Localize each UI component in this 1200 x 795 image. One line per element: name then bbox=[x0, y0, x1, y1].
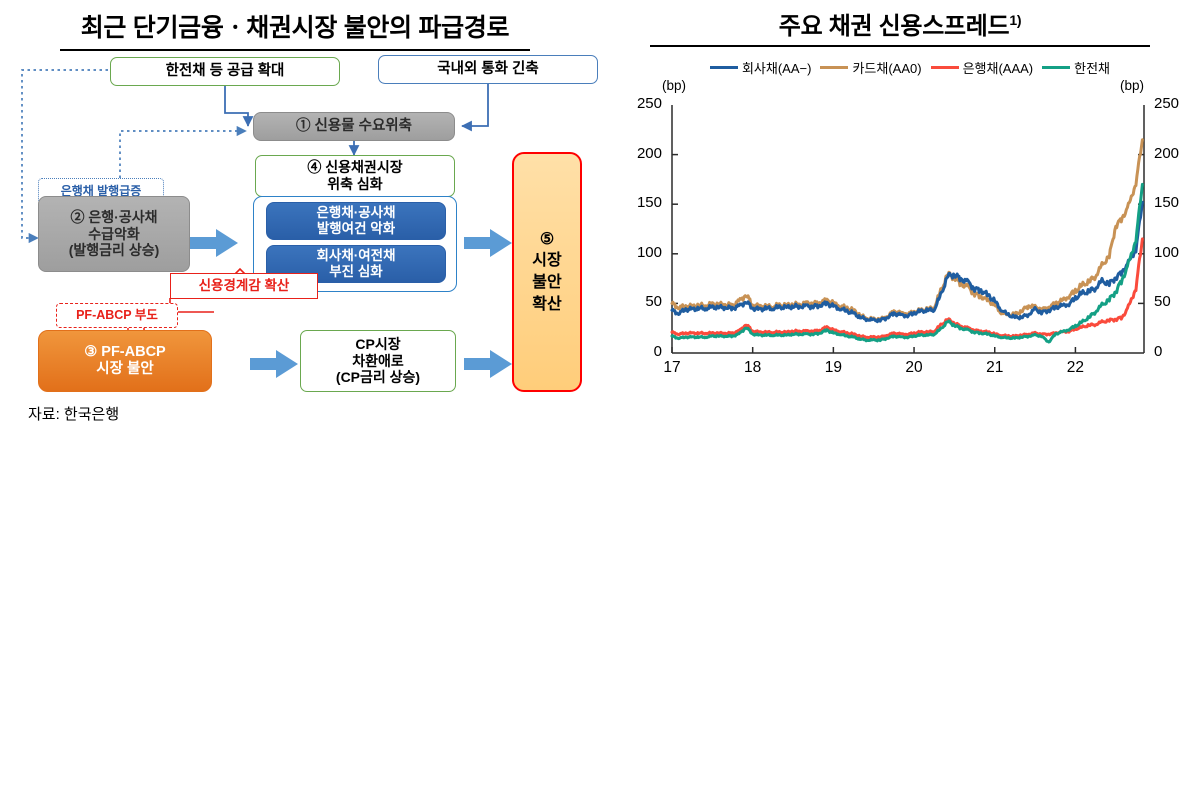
box-node5-market-instability-spread[interactable]: ⑤ 시장 불안 확산 bbox=[512, 152, 582, 392]
y-tick-label-l-50: 50 bbox=[624, 293, 662, 310]
x-tick-label-18: 18 bbox=[738, 359, 768, 377]
y-tick-label-r-0: 0 bbox=[1154, 343, 1192, 360]
box-supply-expansion[interactable]: 한전채 등 공급 확대 bbox=[110, 57, 340, 86]
flow-diagram-panel: 최근 단기금융ㆍ채권시장 불안의 파급경로 bbox=[0, 0, 610, 464]
y-tick-label-r-250: 250 bbox=[1154, 95, 1192, 112]
x-tick-label-21: 21 bbox=[980, 359, 1010, 377]
x-tick-label-19: 19 bbox=[818, 359, 848, 377]
y-tick-label-l-0: 0 bbox=[624, 343, 662, 360]
box-node4-credit-bond-market[interactable]: ④ 신용채권시장 위축 심화 bbox=[255, 155, 455, 197]
left-source-note: 자료: 한국은행 bbox=[28, 405, 119, 425]
box-node2-supply-demand-deterioration[interactable]: ② 은행·공사채 수급악화 (발행금리 상승) bbox=[38, 196, 190, 272]
x-tick-label-17: 17 bbox=[657, 359, 687, 377]
box-node3-pf-abcp-market-instability[interactable]: ③ PF-ABCP 시장 불안 bbox=[38, 330, 212, 392]
chart-plot-area bbox=[610, 0, 1200, 464]
series-line-3 bbox=[672, 239, 1142, 338]
box-monetary-tightening[interactable]: 국내외 통화 긴축 bbox=[378, 55, 598, 84]
x-tick-label-20: 20 bbox=[899, 359, 929, 377]
y-tick-label-l-100: 100 bbox=[624, 244, 662, 261]
box-pf-abcp-default[interactable]: PF-ABCP 부도 bbox=[56, 303, 178, 328]
y-tick-label-r-200: 200 bbox=[1154, 145, 1192, 162]
y-tick-label-l-150: 150 bbox=[624, 194, 662, 211]
y-tick-label-r-50: 50 bbox=[1154, 293, 1192, 310]
y-tick-label-r-150: 150 bbox=[1154, 194, 1192, 211]
box-credit-alarm-spread[interactable]: 신용경계감 확산 bbox=[170, 273, 318, 299]
credit-spread-chart-panel: 주요 채권 신용스프레드1) 회사채(AA−)카드채(AA0)은행채(AAA)한… bbox=[610, 0, 1200, 464]
x-tick-label-22: 22 bbox=[1060, 359, 1090, 377]
y-tick-label-r-100: 100 bbox=[1154, 244, 1192, 261]
box-node1-credit-demand-contraction[interactable]: ① 신용물 수요위축 bbox=[253, 112, 455, 141]
series-line-2 bbox=[672, 140, 1142, 321]
series-line-1 bbox=[672, 202, 1142, 322]
box-cp-market-refinancing[interactable]: CP시장 차환애로 (CP금리 상승) bbox=[300, 330, 456, 392]
y-tick-label-l-250: 250 bbox=[624, 95, 662, 112]
y-tick-label-l-200: 200 bbox=[624, 145, 662, 162]
box-bank-public-bond-issuance[interactable]: 은행채·공사채 발행여건 악화 bbox=[266, 202, 446, 240]
